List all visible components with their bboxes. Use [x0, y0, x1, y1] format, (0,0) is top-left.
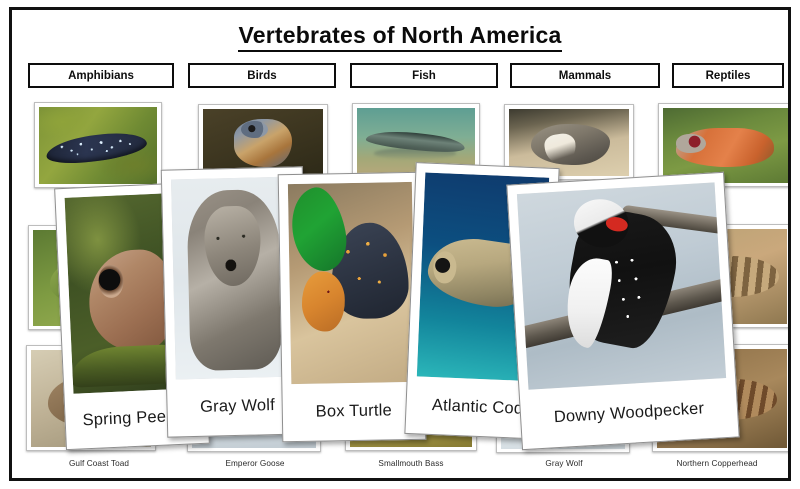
column-caption-fish: Smallmouth Bass [342, 459, 480, 468]
front-card-downy-woodpecker[interactable]: Downy Woodpecker [506, 172, 739, 450]
front-card-label-box-turtle: Box Turtle [291, 382, 416, 441]
card-photo [203, 109, 323, 174]
card-photo [39, 107, 157, 184]
front-card-photo-downy-woodpecker [517, 182, 726, 389]
card-photo [663, 108, 789, 183]
column-caption-amphibians: Gulf Coast Toad [34, 459, 164, 468]
poster-frame: Vertebrates of North America Amphibians … [9, 7, 791, 481]
front-card-box-turtle[interactable]: Box Turtle [278, 172, 427, 442]
screenshot-root: Vertebrates of North America Amphibians … [0, 0, 800, 489]
front-card-photo-box-turtle [288, 182, 415, 384]
column-caption-mammals: Gray Wolf [496, 459, 632, 468]
column-caption-birds: Emperor Goose [188, 459, 322, 468]
column-caption-reptiles: Northern Copperhead [642, 459, 791, 468]
front-card-label-downy-woodpecker: Downy Woodpecker [529, 378, 730, 449]
stack-card-blue-spotted-salamander[interactable] [34, 102, 162, 188]
